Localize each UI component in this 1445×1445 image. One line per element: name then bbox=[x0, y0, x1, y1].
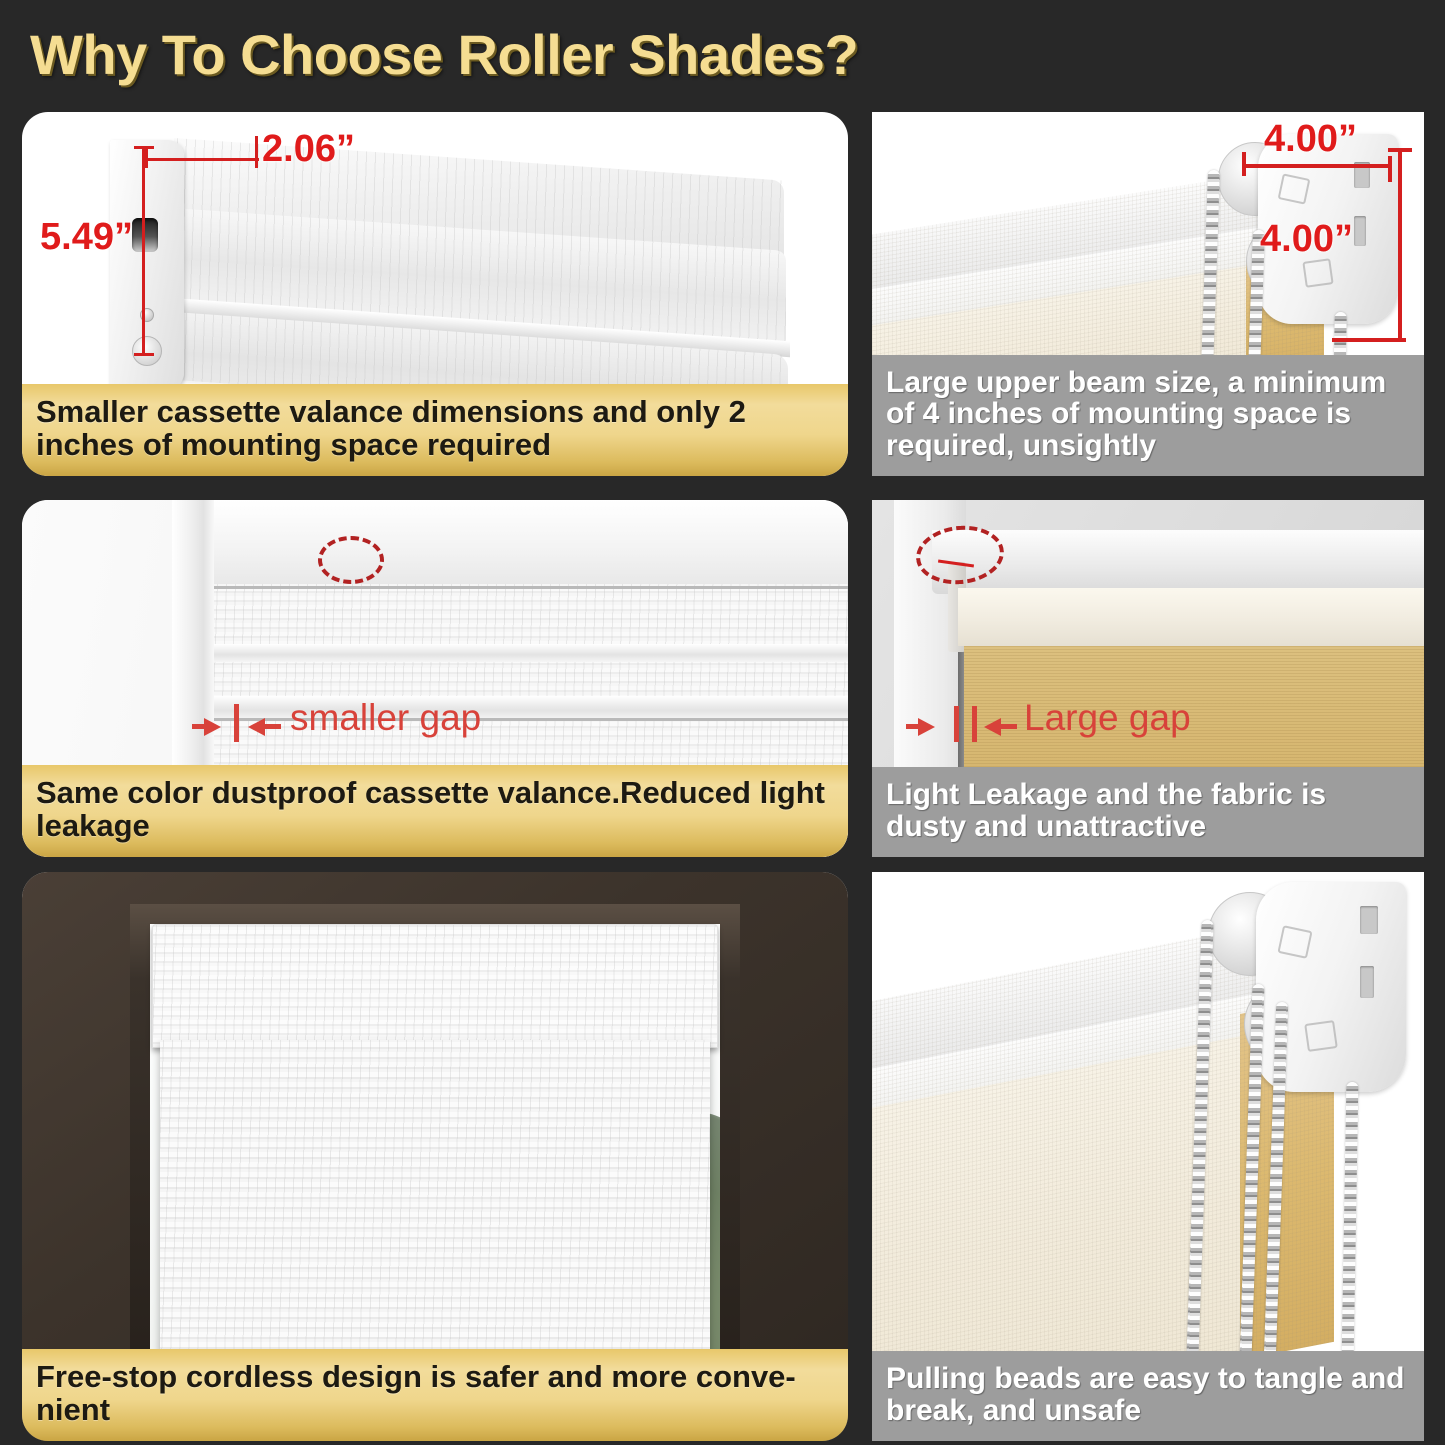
beam-height-tick-top bbox=[1388, 148, 1412, 152]
bracket-mount-slot-bottom bbox=[1354, 216, 1366, 246]
gap-arrow-left-stem bbox=[1001, 724, 1017, 729]
beam-width-label: 4.00” bbox=[1264, 118, 1357, 161]
page-title: Why To Choose Roller Shades? bbox=[30, 22, 858, 87]
roller-shade-fabric bbox=[160, 1040, 710, 1362]
gap-highlight-circle-icon bbox=[318, 536, 384, 584]
large-gap-label: Large gap bbox=[1024, 697, 1191, 739]
panel-large-upper-beam: 4.00” 4.00” Large upper beam size, a min… bbox=[872, 112, 1424, 476]
panel-light-leakage: Large gap Light Leakage and the fabric i… bbox=[872, 500, 1424, 857]
width-dim-tick-right bbox=[255, 136, 258, 168]
head-rail bbox=[958, 588, 1424, 646]
panel-dustproof-cassette-valance: smaller gap Same color dustproof cassett… bbox=[22, 500, 848, 857]
gap-arrow-right-stem bbox=[192, 724, 208, 729]
cassette-valance bbox=[152, 924, 718, 1048]
width-dimension-label: 2.06” bbox=[262, 128, 355, 171]
comparison-grid: 5.49” 2.06” Smaller cassette valance dim… bbox=[0, 108, 1445, 1445]
gap-marker-bar-right bbox=[972, 706, 977, 742]
panel-caption-dustproof-cassette-valance: Same color dustproof cassette valance.Re… bbox=[22, 765, 848, 857]
beam-width-tick-right bbox=[1388, 156, 1392, 182]
gap-arrow-right-stem bbox=[906, 724, 922, 729]
beam-height-tick-bottom bbox=[1332, 338, 1406, 342]
bead-chain-right[interactable] bbox=[1342, 1082, 1359, 1360]
window-frame-header bbox=[172, 500, 848, 592]
beam-height-label: 4.00” bbox=[1260, 218, 1353, 261]
beam-height-dim-line bbox=[1398, 148, 1402, 340]
panel-free-stop-cordless-design: Free-stop cordless design is safer and m… bbox=[22, 872, 848, 1441]
bracket-emboss-bottom bbox=[1304, 1020, 1338, 1052]
panel-pulling-beads-unsafe: Pulling beads are easy to tangle and bre… bbox=[872, 872, 1424, 1441]
panel-caption-cassette-valance-dimensions: Smaller cassette valance dimensions and … bbox=[22, 384, 848, 476]
valance-top-slit bbox=[214, 586, 848, 589]
bracket-slot bbox=[132, 218, 158, 252]
bracket-mount-slot-bottom bbox=[1360, 966, 1374, 998]
panel-caption-free-stop-cordless-design: Free-stop cordless design is safer and m… bbox=[22, 1349, 848, 1441]
valance-rail-upper bbox=[214, 644, 848, 662]
width-dim-line bbox=[145, 158, 259, 161]
panel-caption-light-leakage: Light Leakage and the fabric is dusty an… bbox=[872, 767, 1424, 857]
beam-width-tick-left bbox=[1242, 152, 1246, 176]
height-dimension-label: 5.49” bbox=[40, 216, 133, 259]
gap-marker-bar bbox=[234, 704, 239, 742]
height-dim-tick-bottom bbox=[134, 353, 154, 356]
bracket-mount-slot-top bbox=[1360, 906, 1378, 934]
height-dim-line bbox=[142, 146, 145, 356]
smaller-gap-label: smaller gap bbox=[290, 697, 481, 739]
upper-beam bbox=[932, 530, 1424, 594]
bracket-knob bbox=[132, 336, 162, 366]
width-dim-tick-left bbox=[145, 148, 148, 168]
panel-caption-large-upper-beam: Large upper beam size, a minimum of 4 in… bbox=[872, 355, 1424, 476]
beam-width-dim-line bbox=[1244, 164, 1392, 168]
bracket-emboss-top bbox=[1277, 925, 1312, 959]
gap-arrow-left-stem bbox=[265, 724, 281, 729]
panel-cassette-valance-dimensions: 5.49” 2.06” Smaller cassette valance dim… bbox=[22, 112, 848, 476]
panel-caption-pulling-beads-unsafe: Pulling beads are easy to tangle and bre… bbox=[872, 1351, 1424, 1441]
gap-arrow-left-icon bbox=[248, 718, 265, 736]
gap-marker-bar-left bbox=[954, 706, 959, 742]
bracket-emboss-top bbox=[1278, 173, 1311, 204]
height-dim-tick-top bbox=[134, 146, 154, 149]
bracket-emboss-bottom bbox=[1302, 258, 1333, 288]
gap-arrow-left-icon bbox=[984, 718, 1001, 736]
